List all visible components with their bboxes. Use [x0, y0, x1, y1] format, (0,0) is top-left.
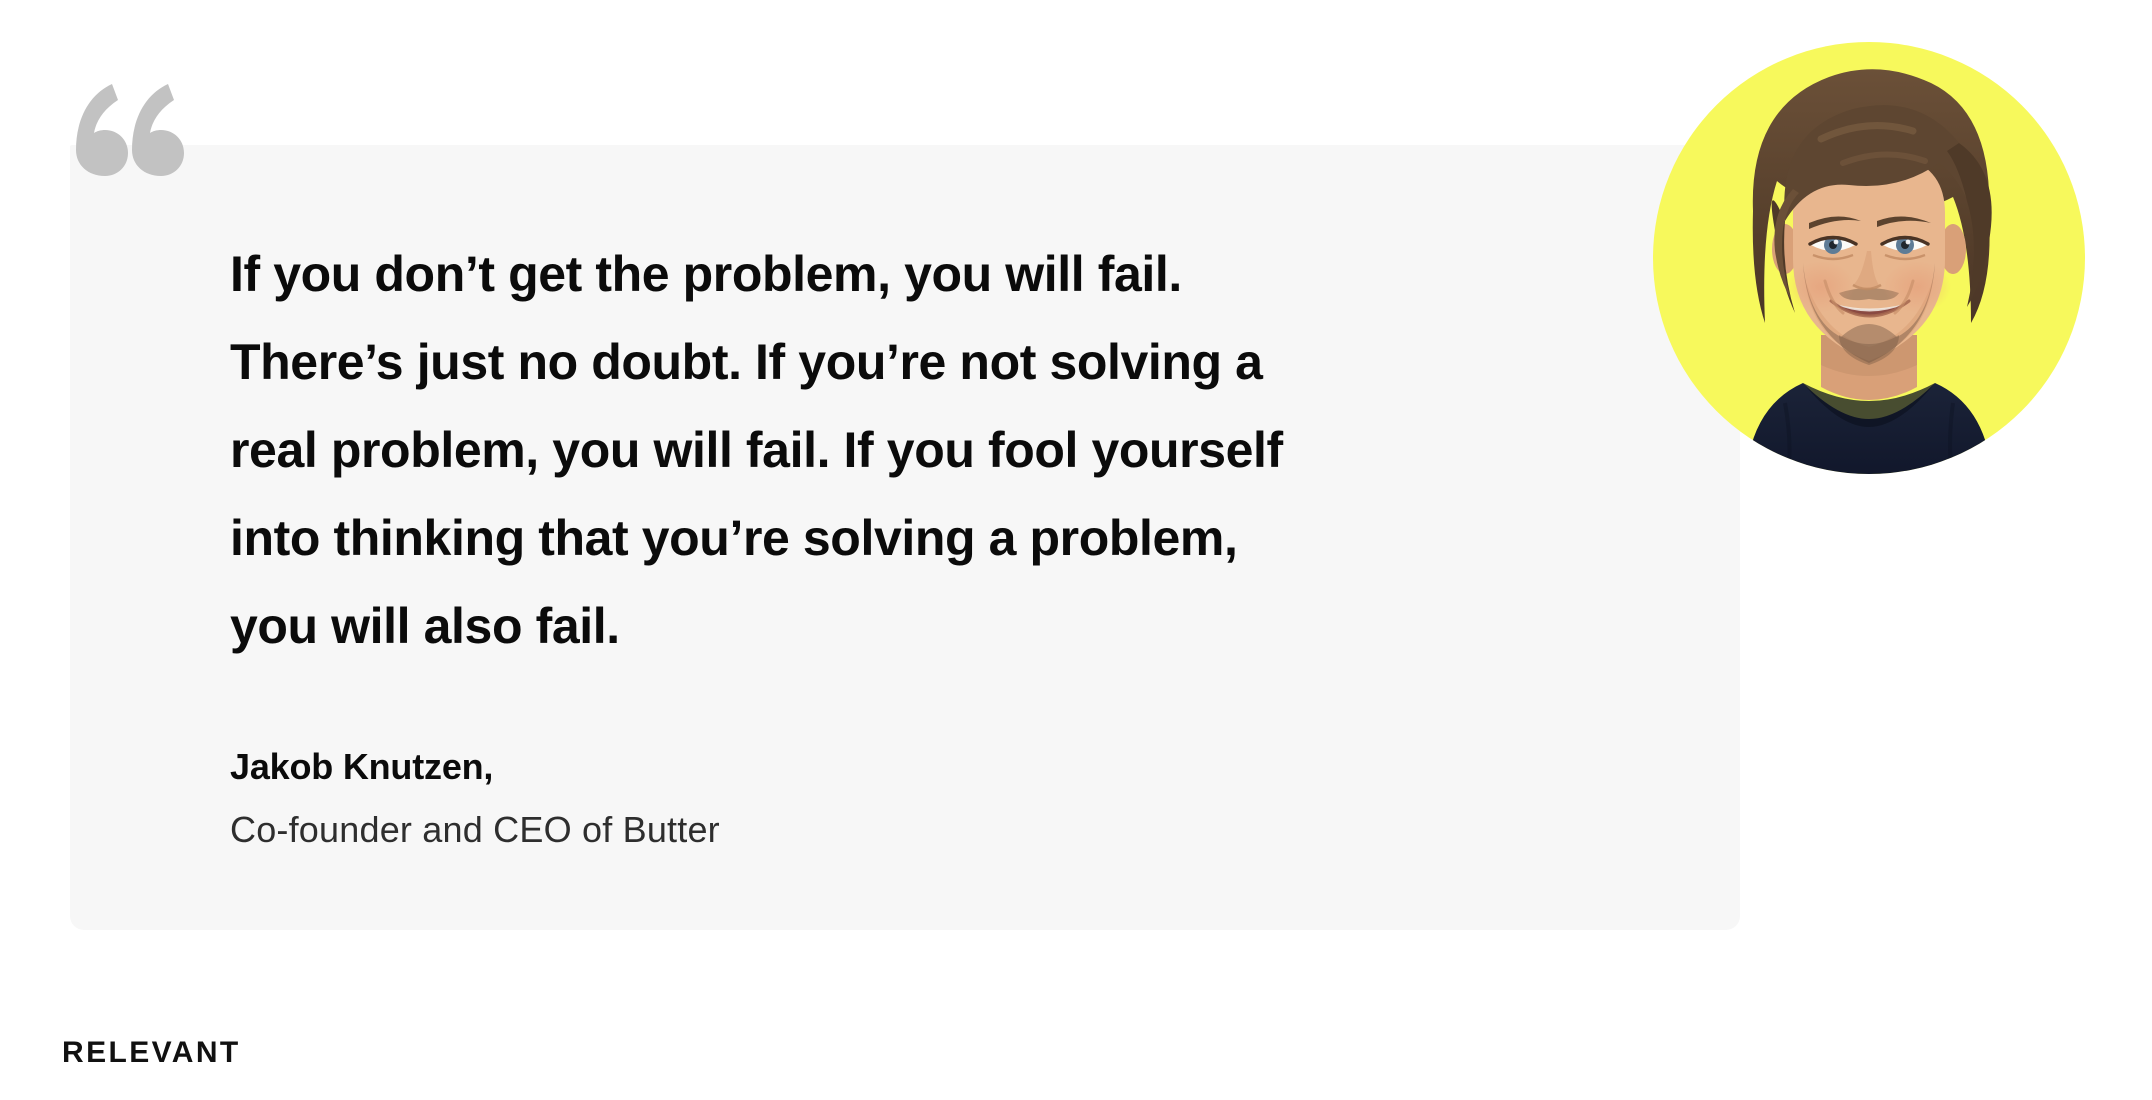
quote-line: There’s just no doubt. If you’re not sol… — [230, 318, 1580, 406]
brand-wordmark: RELEVANT — [62, 1036, 241, 1070]
avatar — [1653, 35, 2085, 485]
quote-text: If you don’t get the problem, you will f… — [230, 230, 1580, 670]
attribution: Jakob Knutzen, Co-founder and CEO of But… — [230, 742, 1430, 856]
testimonial-slide: If you don’t get the problem, you will f… — [0, 0, 2152, 1100]
quote-line: If you don’t get the problem, you will f… — [230, 230, 1580, 318]
quote-line: real problem, you will fail. If you fool… — [230, 406, 1580, 494]
attribution-role: Co-founder and CEO of Butter — [230, 804, 1430, 856]
double-quote-icon — [60, 78, 190, 208]
quote-line: into thinking that you’re solving a prob… — [230, 494, 1580, 582]
quote-line: you will also fail. — [230, 582, 1580, 670]
attribution-name: Jakob Knutzen, — [230, 742, 1430, 792]
